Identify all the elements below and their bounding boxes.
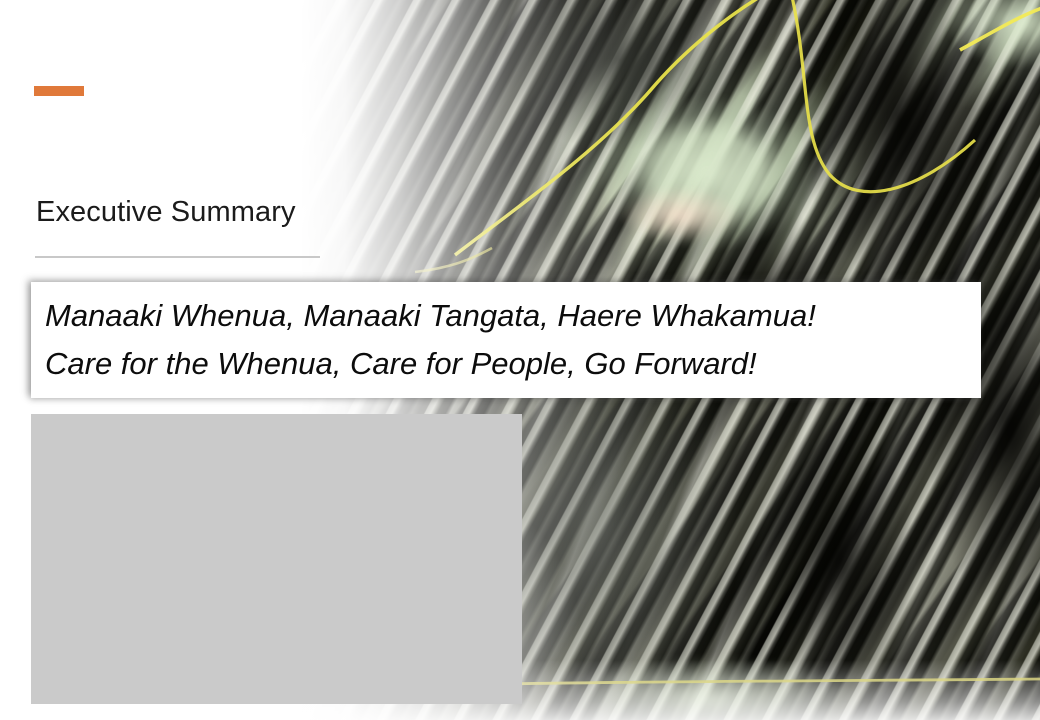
quote-line-maori: Manaaki Whenua, Manaaki Tangata, Haere W… <box>45 292 981 340</box>
quote-panel: Manaaki Whenua, Manaaki Tangata, Haere W… <box>31 282 981 398</box>
accent-bar <box>34 86 84 96</box>
slide-canvas: Executive Summary Manaaki Whenua, Manaak… <box>0 0 1040 720</box>
page-title: Executive Summary <box>36 196 296 229</box>
quote-line-english: Care for the Whenua, Care for People, Go… <box>45 340 981 388</box>
title-divider <box>35 256 320 258</box>
content-placeholder[interactable] <box>31 414 522 704</box>
